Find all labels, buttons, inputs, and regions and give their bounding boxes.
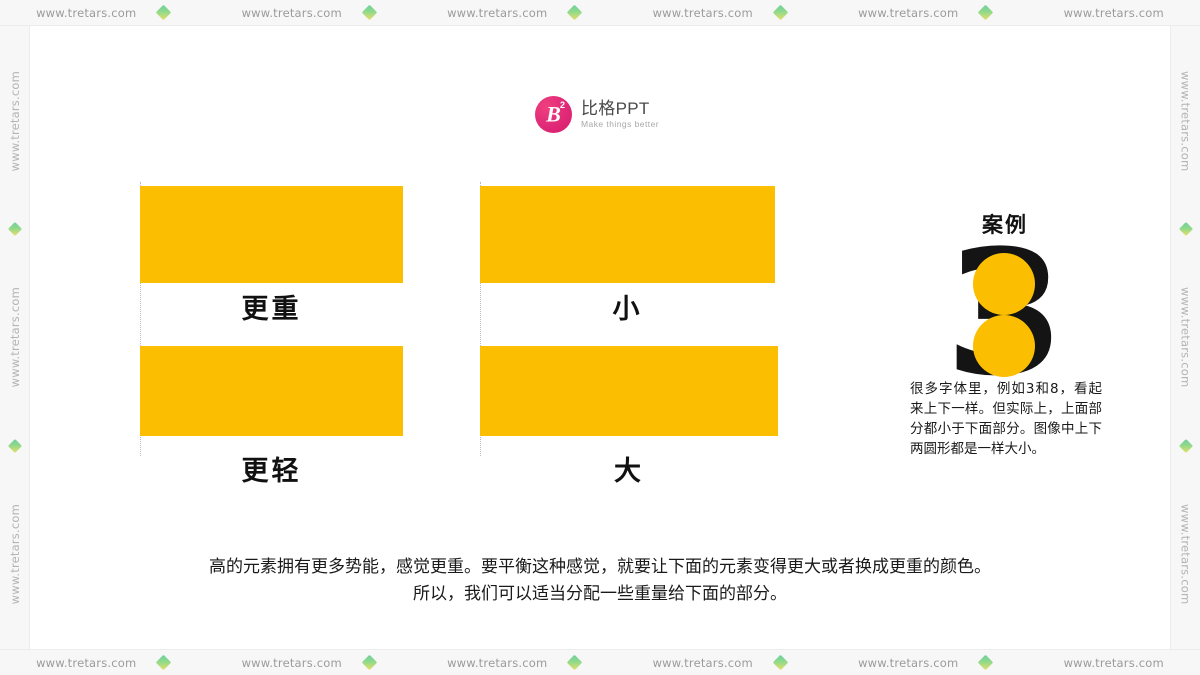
watermark-cell: www.tretars.com [653, 6, 786, 20]
watermark-text-vertical: www.tretars.com [1179, 287, 1193, 387]
footer-note: 高的元素拥有更多势能，感觉更重。要平衡这种感觉，就要让下面的元素变得更大或者换成… [75, 554, 1125, 608]
watermark-cell: www.tretars.com [447, 656, 580, 670]
watermark-cell: www.tretars.com [1064, 6, 1164, 20]
logo-wordmark: 比格PPT Make things better [581, 100, 659, 129]
watermark-cell: www.tretars.com [1064, 656, 1164, 670]
watermark-text: www.tretars.com [36, 656, 136, 670]
watermark-text: www.tretars.com [447, 656, 547, 670]
watermark-text: www.tretars.com [858, 656, 958, 670]
diamond-icon [7, 222, 21, 236]
watermark-text: www.tretars.com [653, 656, 753, 670]
diamond-icon [773, 5, 789, 21]
watermark-cell: www.tretars.com [858, 656, 991, 670]
diamond-icon [156, 655, 172, 671]
diamond-icon [1178, 222, 1192, 236]
watermark-text-vertical: www.tretars.com [1179, 71, 1193, 171]
logo-name: 比格PPT [581, 100, 659, 118]
watermark-cell: www.tretars.com [858, 6, 991, 20]
bar-col2-lower [480, 346, 778, 436]
watermark-text: www.tretars.com [242, 656, 342, 670]
bar-col1-lower [140, 346, 403, 436]
watermark-cell: www.tretars.com [36, 656, 169, 670]
watermark-text-vertical: www.tretars.com [8, 71, 22, 171]
col2-lower-label: 大 [480, 449, 778, 488]
watermark-text-vertical: www.tretars.com [8, 504, 22, 604]
bar-col1-upper [140, 186, 403, 283]
watermark-rail-left: www.tretars.com www.tretars.com www.tret… [0, 26, 30, 649]
footer-line-2: 所以，我们可以适当分配一些重量给下面的部分。 [75, 581, 1125, 608]
diamond-icon [567, 655, 583, 671]
watermark-text: www.tretars.com [36, 6, 136, 20]
watermark-cell: www.tretars.com [36, 6, 169, 20]
watermark-text-vertical: www.tretars.com [8, 287, 22, 387]
diamond-icon [978, 655, 994, 671]
watermark-text: www.tretars.com [1064, 6, 1164, 20]
watermark-cell: www.tretars.com [242, 6, 375, 20]
diamond-icon [773, 655, 789, 671]
diamond-icon [7, 439, 21, 453]
watermark-cell: www.tretars.com [242, 656, 375, 670]
circle-lower [973, 315, 1035, 377]
case-numeral-graphic: 3 [910, 231, 1100, 396]
watermark-text-vertical: www.tretars.com [1179, 504, 1193, 604]
watermark-text: www.tretars.com [858, 6, 958, 20]
logo-letter: B [535, 103, 572, 125]
logo-tagline: Make things better [581, 120, 659, 129]
slide-canvas: B 2 比格PPT Make things better 更重 更轻 小 大 案… [30, 26, 1170, 649]
logo-mark-icon: B 2 [535, 96, 572, 133]
watermark-cell: www.tretars.com [653, 656, 786, 670]
watermark-cell: www.tretars.com [447, 6, 580, 20]
watermark-text: www.tretars.com [447, 6, 547, 20]
diamond-icon [1178, 439, 1192, 453]
logo-superscript: 2 [560, 101, 565, 110]
watermark-text: www.tretars.com [653, 6, 753, 20]
watermark-rail-right: www.tretars.com www.tretars.com www.tret… [1170, 26, 1200, 649]
watermark-text: www.tretars.com [242, 6, 342, 20]
watermark-text: www.tretars.com [1064, 656, 1164, 670]
col1-upper-label: 更重 [140, 287, 403, 326]
bar-col2-upper [480, 186, 775, 283]
watermark-bar-bottom: www.tretars.com www.tretars.com www.tret… [0, 649, 1200, 675]
circle-upper [973, 253, 1035, 315]
diamond-icon [362, 5, 378, 21]
col2-upper-label: 小 [480, 287, 775, 326]
diamond-icon [156, 5, 172, 21]
diamond-icon [567, 5, 583, 21]
brand-logo: B 2 比格PPT Make things better [535, 96, 659, 133]
col1-lower-label: 更轻 [140, 449, 403, 488]
watermark-bar-top: www.tretars.com www.tretars.com www.tret… [0, 0, 1200, 26]
footer-line-1: 高的元素拥有更多势能，感觉更重。要平衡这种感觉，就要让下面的元素变得更大或者换成… [75, 554, 1125, 581]
diamond-icon [362, 655, 378, 671]
diamond-icon [978, 5, 994, 21]
